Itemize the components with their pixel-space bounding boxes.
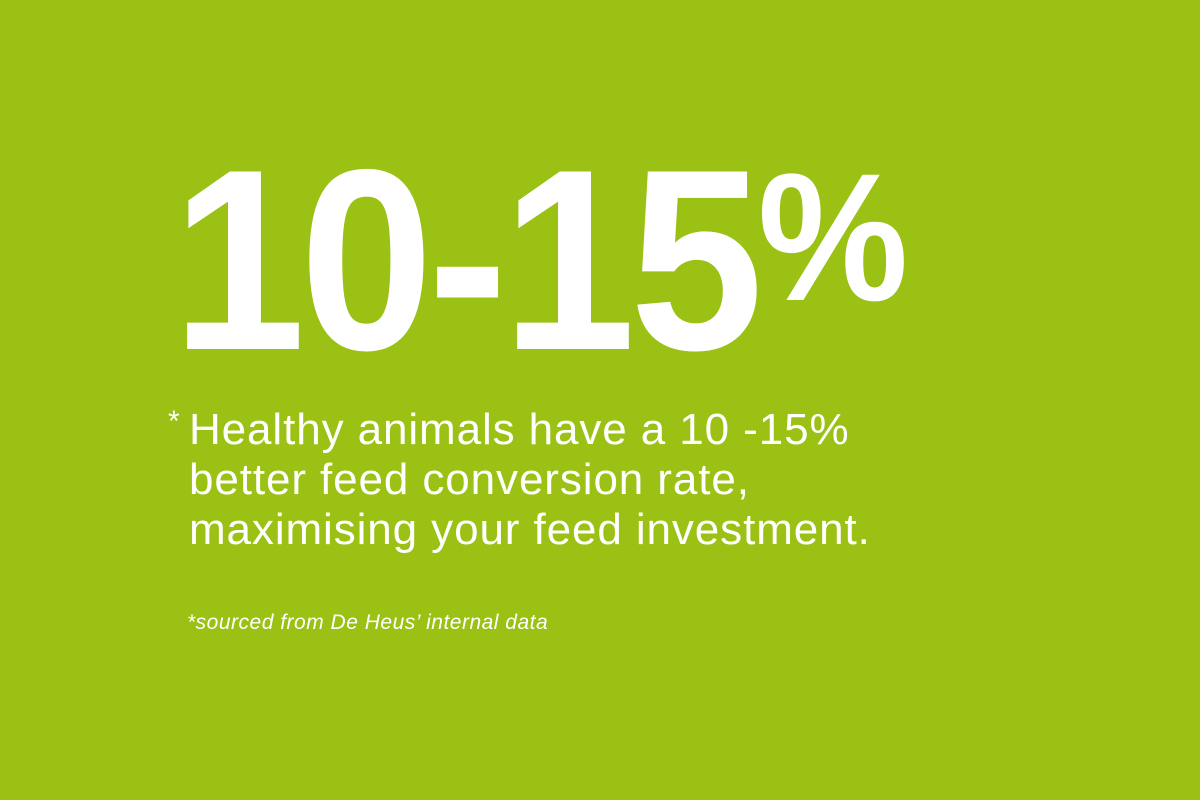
stat-card: 10-15% *Healthy animals have a 10 -15% b… bbox=[0, 0, 1200, 800]
body-copy-line-3: maximising your feed investment. bbox=[168, 505, 1128, 555]
body-copy-line-2: better feed conversion rate, bbox=[168, 455, 1128, 505]
body-copy: *Healthy animals have a 10 -15% better f… bbox=[168, 405, 1128, 555]
body-copy-line-1: *Healthy animals have a 10 -15% bbox=[168, 405, 1128, 455]
headline-range-value: 10-15 bbox=[172, 115, 758, 404]
headline-statistic: 10-15% bbox=[172, 140, 1046, 380]
headline-percent-symbol: % bbox=[758, 146, 907, 328]
body-copy-line-1-text: Healthy animals have a 10 -15% bbox=[189, 405, 849, 454]
footnote-marker-asterisk: * bbox=[168, 407, 189, 437]
source-footnote: *sourced from De Heus’ internal data bbox=[187, 610, 548, 636]
